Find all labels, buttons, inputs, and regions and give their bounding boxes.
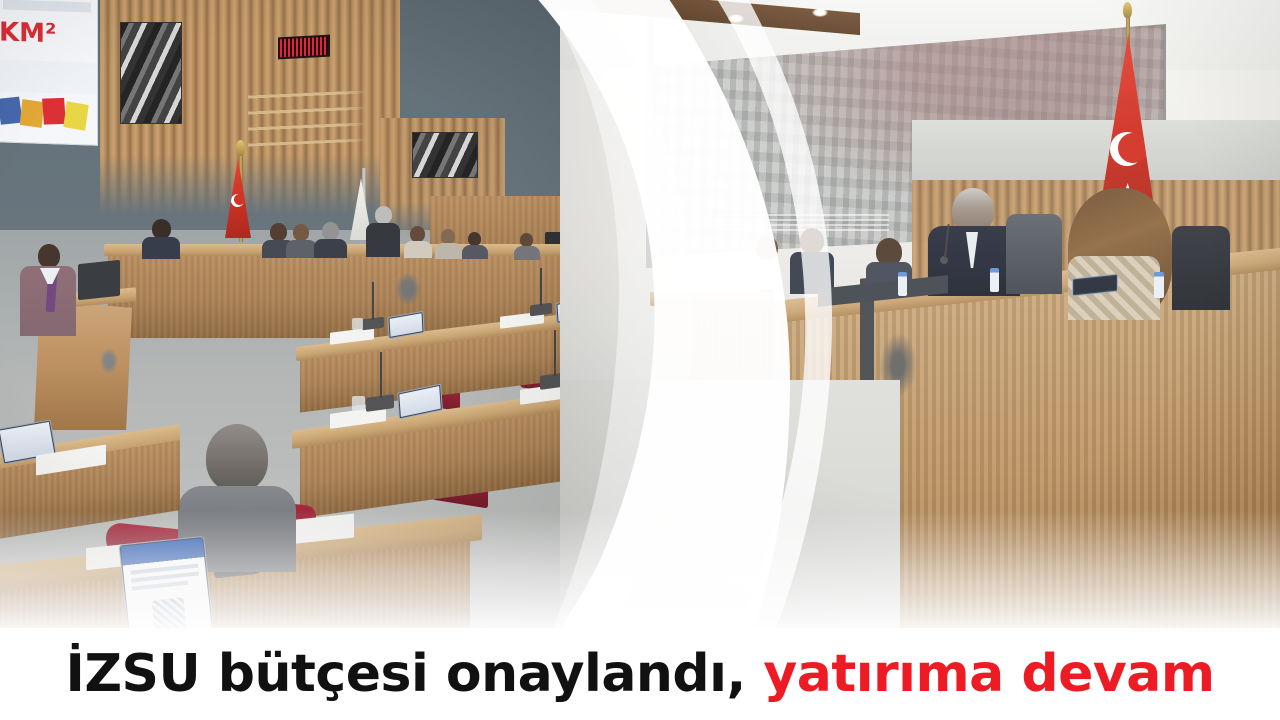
official-head-7	[441, 229, 455, 244]
staff-head-2	[800, 228, 824, 254]
staff-head-3	[756, 236, 778, 260]
headline-banner: İZSU bütçesi onaylandı, yatırıma devam	[0, 628, 1280, 720]
water-bottle	[898, 272, 907, 296]
official-head-5	[375, 206, 392, 224]
podium-monitor	[78, 260, 120, 300]
izmir-emblem-podium	[100, 348, 118, 374]
ceiling-downlight	[622, 30, 638, 39]
bw-portrait-2	[412, 132, 478, 178]
headline-part-red: yatırıma devam	[763, 644, 1214, 704]
headline-text: İZSU bütçesi onaylandı, yatırıma devam	[65, 644, 1214, 704]
ceiling-downlight	[812, 8, 828, 17]
water-glass	[352, 318, 363, 330]
bw-portrait-1	[120, 22, 182, 124]
official-head-4	[322, 222, 339, 240]
official-head-9	[520, 233, 533, 247]
ceiling-downlight	[678, 42, 694, 51]
presentation-slide: KM²	[0, 0, 98, 146]
official-head-8	[468, 232, 481, 246]
led-sign	[278, 35, 330, 60]
official-head-2	[270, 223, 287, 241]
water-glass	[352, 396, 365, 411]
izmir-emblem-dais	[395, 272, 421, 306]
upper-wall-right	[912, 120, 1280, 180]
slide-title: KM²	[0, 17, 56, 49]
wall-motto-lettering	[248, 81, 368, 146]
headline-part-black: İZSU bütçesi onaylandı,	[65, 644, 763, 704]
official-head-6	[410, 226, 425, 242]
flag-finial-right	[1123, 2, 1132, 18]
speaker-head	[38, 244, 60, 268]
leather-chair	[1172, 226, 1230, 310]
seated-member-head	[206, 424, 268, 492]
screen-left-rail	[646, 18, 654, 268]
official-head-1	[152, 219, 171, 239]
flag-finial-left	[236, 140, 245, 156]
official-head-3	[293, 224, 309, 241]
news-hero-image: KM²	[0, 0, 1280, 720]
ceiling-downlight	[728, 14, 744, 23]
screen-lower-third	[715, 213, 888, 231]
water-bottle	[990, 268, 999, 292]
rostrum-top	[650, 292, 774, 306]
water-bottle	[1154, 272, 1164, 298]
leather-chair	[1006, 214, 1062, 294]
